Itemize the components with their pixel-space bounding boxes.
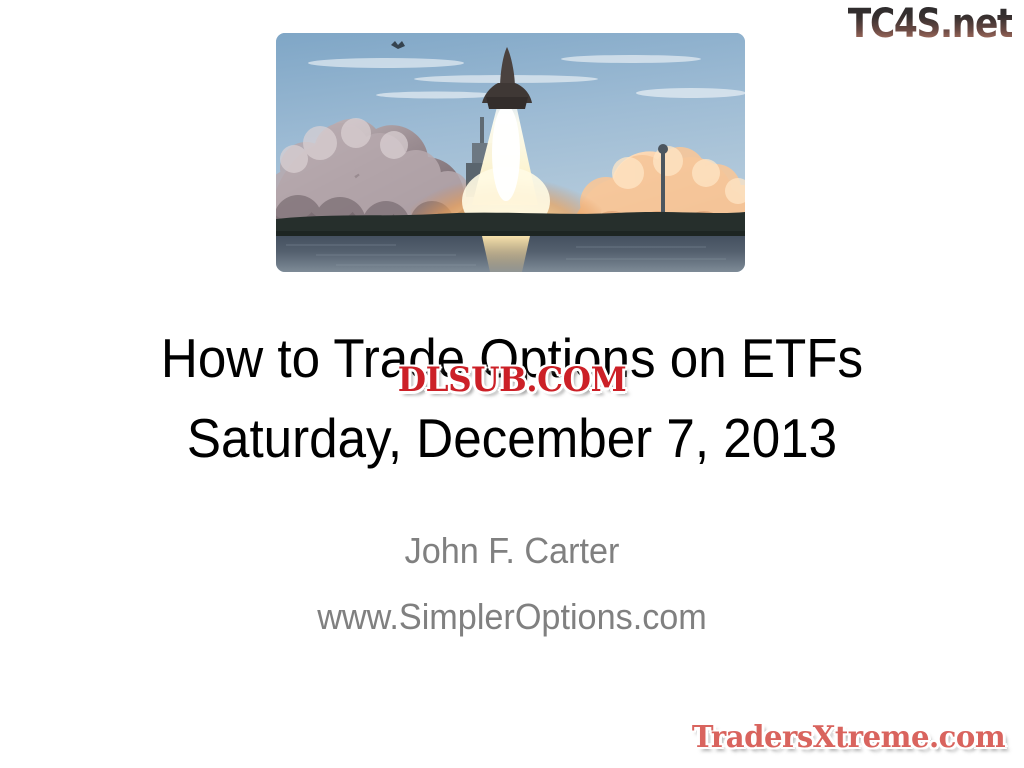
shuttle-launch-illustration	[276, 33, 745, 272]
watermark-tc4s: TC4S.net	[848, 2, 1012, 46]
page-subtitle-date: Saturday, December 7, 2013	[36, 398, 988, 478]
shuttle-launch-photo	[276, 33, 745, 272]
presenter-name: John F. Carter	[26, 518, 999, 584]
slide-subtitle-block: John F. Carter www.SimplerOptions.com	[0, 518, 1024, 650]
water-reflection	[482, 236, 530, 272]
presentation-slide: TC4S.net	[0, 0, 1024, 768]
watermark-dlsub: DLSUB.COM	[398, 360, 626, 400]
watermark-tradersxtreme: TradersXtreme.com	[692, 720, 1005, 756]
presenter-website: www.SimplerOptions.com	[26, 584, 999, 650]
